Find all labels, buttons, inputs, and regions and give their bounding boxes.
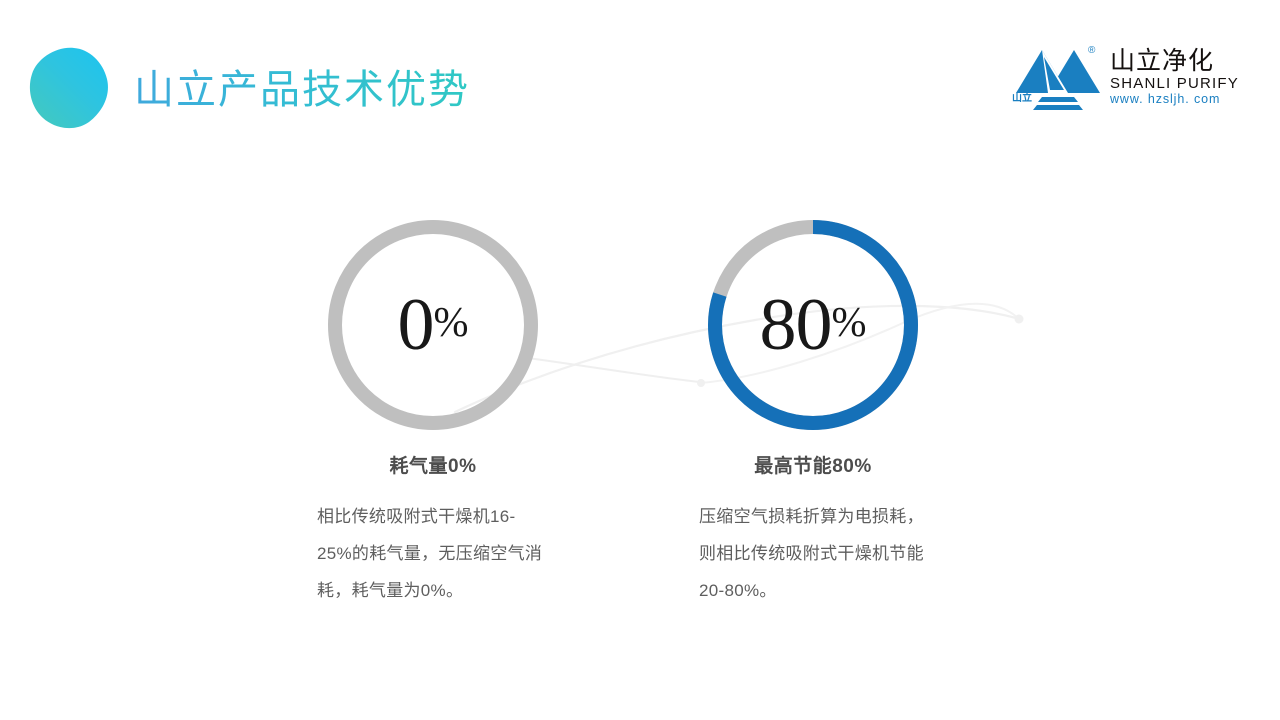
metric-description: 压缩空气损耗折算为电损耗，则相比传统吸附式干燥机节能20-80%。 [699, 498, 927, 609]
donut-unit: % [434, 302, 469, 348]
decorative-blob-icon [27, 46, 109, 130]
donut-unit: % [832, 302, 867, 348]
metric-heading: 最高节能80% [663, 455, 963, 479]
mountain-logo-icon: ® 山立 [1012, 44, 1104, 116]
metric-card-gas-consumption: 0 % 耗气量0% 相比传统吸附式干燥机16-25%的耗气量，无压缩空气消耗，耗… [283, 214, 583, 609]
donut-value-energy-saving: 80 % [702, 214, 924, 436]
donut-number: 0 [398, 288, 434, 362]
page-title: 山立产品技术优势 [134, 62, 470, 118]
logo-text-block: 山立净化 SHANLI PURIFY www. hzsljh. com [1110, 44, 1239, 107]
donut-chart-energy-saving: 80 % [702, 214, 924, 436]
donut-chart-gas-consumption: 0 % [322, 214, 544, 436]
donut-value-gas-consumption: 0 % [322, 214, 544, 436]
company-name-cn: 山立净化 [1110, 48, 1239, 75]
company-name-en: SHANLI PURIFY [1110, 75, 1239, 92]
company-website[interactable]: www. hzsljh. com [1110, 92, 1239, 107]
slide-canvas: 山立产品技术优势 ® 山立 [0, 0, 1280, 720]
metric-description: 相比传统吸附式干燥机16-25%的耗气量，无压缩空气消耗，耗气量为0%。 [317, 498, 549, 609]
metric-card-energy-saving: 80 % 最高节能80% 压缩空气损耗折算为电损耗，则相比传统吸附式干燥机节能2… [663, 214, 963, 609]
metric-heading: 耗气量0% [283, 455, 583, 479]
company-logo: ® 山立 山立净化 SHANLI PURIFY www. hzsljh. com [1012, 44, 1248, 118]
donut-number: 80 [760, 288, 832, 362]
slide-header: 山立产品技术优势 ® 山立 [0, 0, 1280, 150]
registered-trademark-icon: ® [1088, 46, 1095, 56]
logo-mark-label: 山立 [1012, 93, 1032, 104]
